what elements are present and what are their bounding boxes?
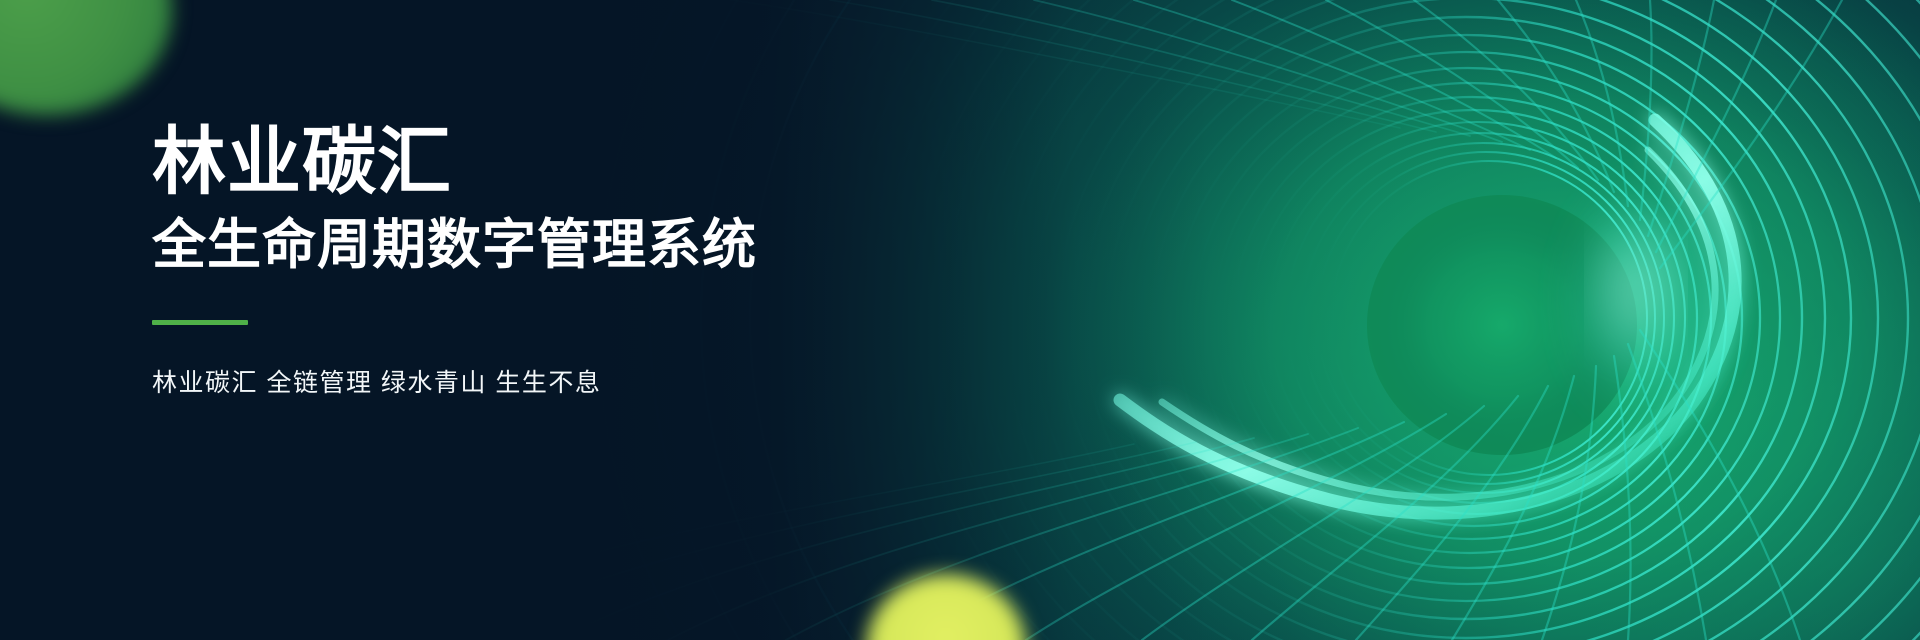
hero-tagline: 林业碳汇 全链管理 绿水青山 生生不息 bbox=[152, 363, 601, 399]
page-title: 林业碳汇 bbox=[152, 125, 452, 199]
green-accent-divider bbox=[152, 320, 248, 325]
page-subtitle: 全生命周期数字管理系统 bbox=[152, 216, 757, 274]
hero-text-block: 林业碳汇 全生命周期数字管理系统 林业碳汇 全链管理 绿水青山 生生不息 bbox=[152, 0, 1052, 640]
hero-banner: 林业碳汇 全生命周期数字管理系统 林业碳汇 全链管理 绿水青山 生生不息 bbox=[0, 0, 1920, 640]
